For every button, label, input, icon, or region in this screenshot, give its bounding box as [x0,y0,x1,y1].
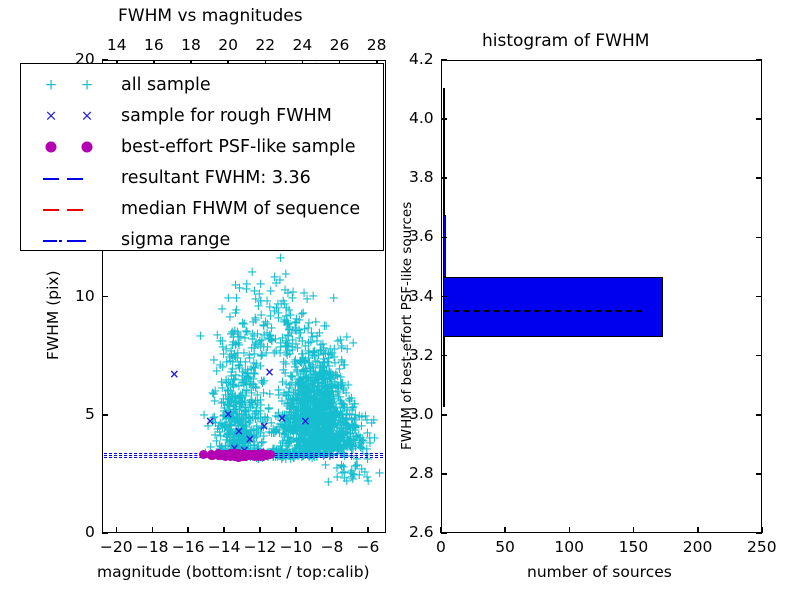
scatter-point-all-sample: + [275,254,286,263]
dashed-line-icon [67,178,83,180]
histogram-x-tick-label: 200 [683,540,713,556]
scatter-point-all-sample: + [270,429,281,438]
legend-row: best-effort PSF-like sample [25,131,383,162]
x-axis-tick [152,527,154,533]
scatter-point-all-sample: + [318,350,329,359]
histogram-y-tick [441,237,447,239]
histogram-y-tick-right [756,355,762,357]
scatter-point-all-sample: + [230,281,241,290]
scatter-point-all-sample: + [212,331,223,340]
scatter-point-rough-fwhm: × [223,410,233,419]
x-axis-tick [259,527,261,533]
dashdot-line-icon [43,240,57,242]
top-axis-tick-label: 18 [181,38,201,54]
x-axis-tick-label: −14 [208,540,241,556]
histogram-y-tick-label: 3.0 [409,407,434,423]
scatter-point-all-sample: + [254,337,265,346]
histogram-y-tick [441,355,447,357]
scatter-point-all-sample: + [349,471,360,480]
legend-row: sigma range [25,224,383,255]
scatter-point-all-sample: + [349,422,360,431]
histogram-median-line [443,310,642,312]
histogram-x-tick [633,527,635,533]
histogram-x-tick-label: 100 [554,540,584,556]
legend-label: sample for rough FWHM [121,106,332,126]
x-axis-tick-label: −10 [280,540,313,556]
scatter-point-all-sample: + [244,351,255,360]
histogram-bar [443,337,446,408]
right-x-axis-label: number of sources [527,563,672,581]
scatter-point-rough-fwhm: × [264,368,274,377]
top-axis-tick-label: 22 [255,38,275,54]
scatter-point-rough-fwhm: × [169,370,179,379]
legend-row: median FHWM of sequence [25,193,383,224]
legend-label: all sample [121,75,211,95]
scatter-point-all-sample: + [275,339,286,348]
x-axis-tick [367,527,369,533]
scatter-point-all-sample: + [310,318,321,327]
top-axis-tick-label: 16 [144,38,164,54]
histogram-y-tick-label: 4.0 [409,111,434,127]
cross-icon: × [45,108,58,123]
x-axis-tick [116,527,118,533]
histogram-y-tick [441,296,447,298]
x-axis-tick [187,527,189,533]
x-axis-tick [295,527,297,533]
histogram-x-tick-label: 150 [619,540,649,556]
histogram-y-tick-right [756,473,762,475]
histogram-data-layer [443,62,761,532]
histogram-y-tick [441,118,447,120]
legend-row: ××sample for rough FWHM [25,100,383,131]
histogram-y-tick-right [756,532,762,534]
histogram-y-tick-label: 2.6 [409,525,434,541]
scatter-point-all-sample: + [323,429,334,438]
scatter-point-all-sample: + [299,289,310,298]
scatter-point-all-sample: + [287,343,298,352]
top-axis-tick-label: 24 [292,38,312,54]
y-axis-tick-label: 0 [85,525,95,541]
x-axis-tick [331,527,333,533]
histogram-y-tick-right [756,414,762,416]
histogram-y-tick [441,59,447,61]
scatter-point-psf-like [222,450,231,459]
histogram-x-tick-label: 0 [436,540,446,556]
legend-row: resultant FWHM: 3.36 [25,162,383,193]
histogram-y-tick-right [756,118,762,120]
dashed-line-icon [43,209,59,211]
scatter-point-all-sample: + [255,297,266,306]
scatter-point-all-sample: + [304,349,315,358]
histogram-y-tick-right [756,237,762,239]
scatter-point-all-sample: + [333,384,344,393]
scatter-point-all-sample: + [295,329,306,338]
scatter-point-all-sample: + [257,351,268,360]
histogram-y-tick-label: 3.4 [409,289,434,305]
legend-label: median FHWM of sequence [121,199,360,219]
scatter-point-all-sample: + [251,404,262,413]
x-axis-tick-label: −16 [172,540,205,556]
scatter-point-all-sample: + [297,392,308,401]
histogram-y-tick [441,177,447,179]
dashdot-line-icon [67,240,83,242]
legend: ++all sample××sample for rough FWHMbest-… [20,63,384,251]
left-panel-title: FWHM vs magnitudes [118,6,303,26]
scatter-point-all-sample: + [223,294,234,303]
histogram-y-tick-right [756,59,762,61]
scatter-point-all-sample: + [328,294,339,303]
scatter-point-all-sample: + [279,300,290,309]
y-axis-tick-label: 5 [85,407,95,423]
scatter-point-rough-fwhm: × [277,414,287,423]
scatter-point-rough-fwhm: × [245,435,255,444]
scatter-point-rough-fwhm: × [300,417,310,426]
scatter-point-all-sample: + [348,339,359,348]
scatter-point-all-sample: + [217,305,228,314]
y-axis-tick [102,532,108,534]
histogram-y-tick [441,473,447,475]
histogram-y-tick-right [756,177,762,179]
filled-circle-icon [82,141,93,152]
scatter-point-all-sample: + [348,437,359,446]
scatter-point-all-sample: + [288,403,299,412]
legend-key: ×× [25,100,121,131]
scatter-point-rough-fwhm: × [205,417,215,426]
histogram-bar [443,88,445,215]
right-panel-title: histogram of FWHM [482,31,649,51]
scatter-point-all-sample: + [336,344,347,353]
histogram-x-tick-label: 250 [747,540,777,556]
x-axis-tick-label: −6 [357,540,380,556]
scatter-point-all-sample: + [320,461,331,470]
plus-icon: + [81,77,94,92]
dot-segment-icon [59,240,62,242]
histogram-x-tick [697,527,699,533]
scatter-point-rough-fwhm: × [234,427,244,436]
x-axis-tick-label: −8 [321,540,344,556]
scatter-point-all-sample: + [226,351,237,360]
histogram-y-tick [441,532,447,534]
scatter-point-all-sample: + [231,306,242,315]
top-axis-tick-label: 28 [367,38,387,54]
legend-label: best-effort PSF-like sample [121,137,356,157]
scatter-point-all-sample: + [335,408,346,417]
legend-row: ++all sample [25,69,383,100]
scatter-point-all-sample: + [374,469,384,478]
x-axis-tick [223,527,225,533]
scatter-point-all-sample: + [308,363,319,372]
scatter-point-all-sample: + [271,279,282,288]
histogram-y-tick-label: 2.8 [409,466,434,482]
scatter-point-all-sample: + [335,373,346,382]
figure-canvas: FWHM vs magnitudes +++++++++++++++++++++… [0,0,800,600]
histogram-bar [443,277,664,336]
top-axis-tick-label: 20 [218,38,238,54]
scatter-point-all-sample: + [210,387,221,396]
histogram-x-tick [569,527,571,533]
legend-label: sigma range [121,230,230,250]
histogram-x-tick [504,527,506,533]
scatter-point-all-sample: + [246,389,257,398]
x-axis-tick-label: −12 [244,540,277,556]
histogram-y-tick-label: 3.2 [409,348,434,364]
y-axis-tick-label: 10 [75,289,95,305]
plus-icon: + [45,77,58,92]
scatter-point-all-sample: + [195,332,206,341]
legend-label: resultant FWHM: 3.36 [121,168,311,188]
dot-segment-icon [83,240,86,242]
scatter-point-psf-like [239,450,248,459]
legend-key: ++ [25,69,121,100]
y-axis-tick [102,414,108,416]
dashed-line-icon [67,209,83,211]
histogram-x-tick-label: 50 [495,540,515,556]
legend-key [25,131,121,162]
histogram-y-tick-label: 3.6 [409,229,434,245]
y-axis-tick [102,59,108,61]
histogram-bar [443,215,447,277]
x-axis-tick-label: −20 [100,540,133,556]
filled-circle-icon [46,141,57,152]
scatter-point-all-sample: + [234,333,245,342]
histogram-y-tick-label: 4.2 [409,52,434,68]
scatter-point-all-sample: + [262,320,273,329]
scatter-point-all-sample: + [247,268,258,277]
scatter-point-all-sample: + [362,473,373,482]
histogram-y-tick-label: 3.8 [409,170,434,186]
legend-key [25,193,121,224]
scatter-point-rough-fwhm: × [259,422,269,431]
top-axis-tick-label: 14 [107,38,127,54]
y-axis-tick [102,296,108,298]
scatter-point-all-sample: + [237,320,248,329]
x-axis-tick-label: −18 [136,540,169,556]
scatter-point-all-sample: + [360,412,371,421]
legend-key [25,224,121,255]
scatter-point-all-sample: + [314,388,325,397]
left-y-axis-label: FWHM (pix) [44,270,62,360]
cross-icon: × [81,108,94,123]
histogram-y-tick [441,414,447,416]
dashed-line-icon [43,178,59,180]
histogram-y-tick-right [756,296,762,298]
left-x-axis-label: magnitude (bottom:isnt / top:calib) [97,563,370,581]
legend-key [25,162,121,193]
top-axis-tick-label: 26 [330,38,350,54]
